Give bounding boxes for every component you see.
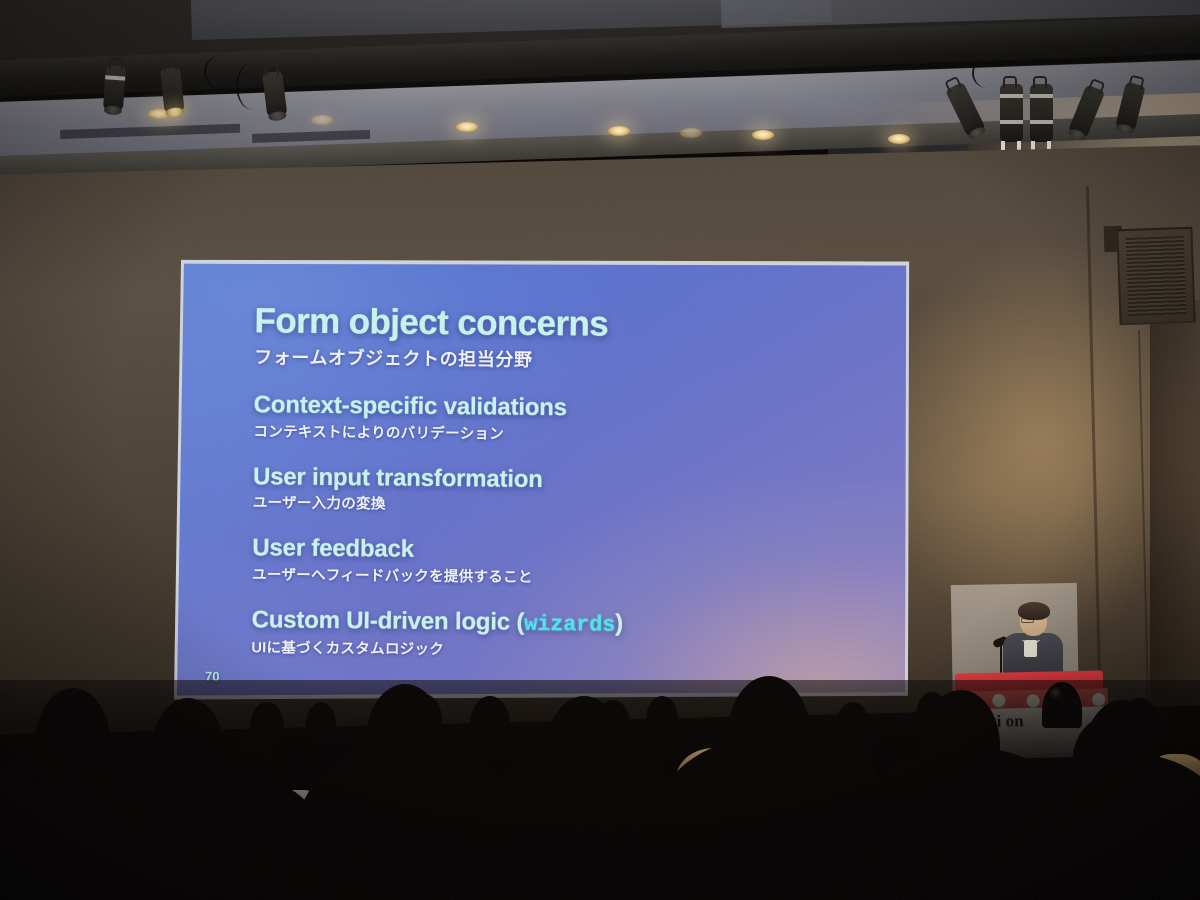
- spotlight-yoke: [1128, 75, 1144, 90]
- spotlight-band: [1030, 120, 1053, 124]
- stage-spotlight: [103, 65, 126, 110]
- recessed-downlight: [888, 134, 910, 144]
- wall-speaker: [1116, 227, 1195, 326]
- spotlight-yoke: [1033, 76, 1047, 88]
- hanging-cable: [236, 62, 270, 110]
- recessed-downlight: [608, 126, 630, 136]
- spotlight-yoke: [1003, 76, 1017, 88]
- spotlight-band: [105, 75, 125, 80]
- spotlight-body: [1030, 84, 1053, 142]
- spotlight-body: [1000, 84, 1023, 142]
- speaker-grill: [1126, 236, 1187, 316]
- recessed-downlight: [752, 130, 774, 140]
- spotlight-body: [103, 65, 126, 110]
- bullet-item: User feedback ユーザーへフィードバックを提供すること: [252, 536, 878, 591]
- slide-title: Form object concerns: [254, 303, 880, 345]
- hanging-cable: [972, 58, 1002, 88]
- recessed-downlight: [311, 115, 333, 125]
- recessed-downlight: [456, 122, 478, 132]
- slide-title-japanese: フォームオブジェクトの担当分野: [254, 343, 880, 375]
- spotlight-band: [1000, 94, 1023, 98]
- spotlight-band: [1030, 94, 1053, 98]
- bullet-item: Context-specific validations コンテキストによりのバ…: [253, 392, 879, 447]
- audience-head: [306, 702, 336, 738]
- stage-spotlight: [1000, 84, 1023, 142]
- spotlight-band: [1000, 120, 1023, 124]
- bullet-item: User input transformation ユーザー入力の変換: [253, 464, 879, 519]
- spotlight-yoke: [162, 59, 177, 72]
- spotlight-yoke: [109, 58, 124, 71]
- recessed-downlight: [680, 128, 702, 138]
- lecture-hall-photo: Form object concerns フォームオブジェクトの担当分野 Con…: [0, 0, 1200, 900]
- audience-silhouettes: [0, 600, 1200, 900]
- stage-spotlight: [1030, 84, 1053, 142]
